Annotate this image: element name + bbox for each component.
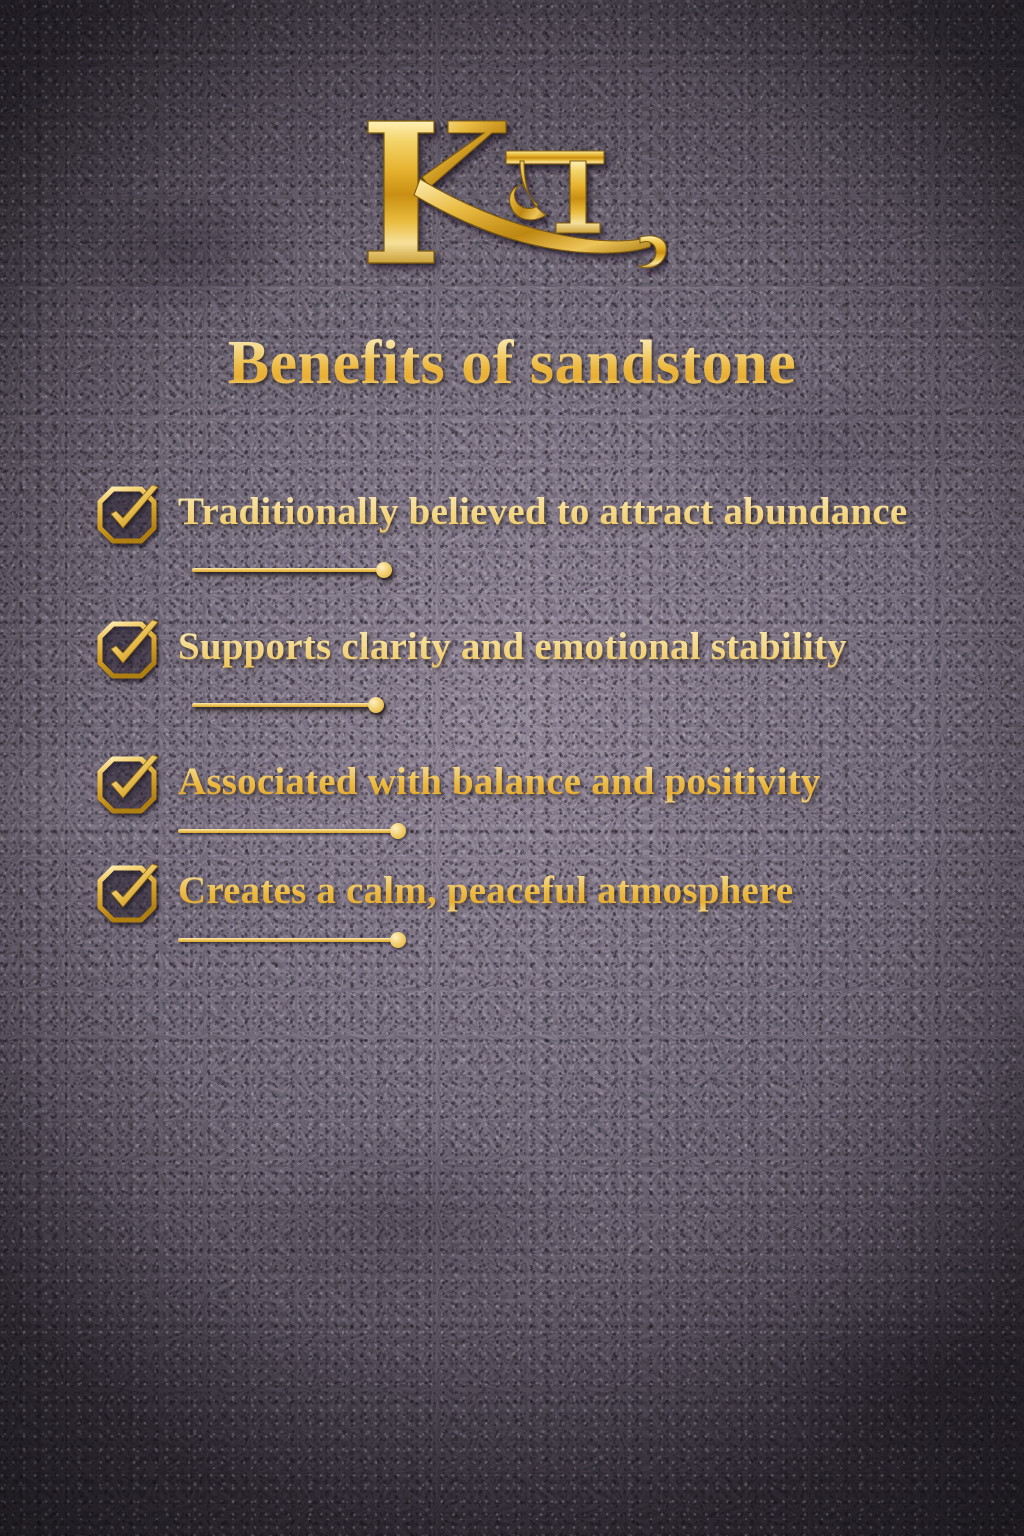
accent-rule-dot	[390, 823, 406, 839]
accent-rule	[178, 823, 956, 839]
checkbox-checked-icon[interactable]	[96, 864, 162, 926]
accent-rule-dot	[376, 562, 392, 578]
checkbox-checked-icon[interactable]	[96, 620, 162, 682]
benefits-list: Traditionally believed to attract abunda…	[96, 482, 956, 970]
brand-logo	[0, 104, 1024, 289]
accent-rule-bar	[192, 703, 370, 707]
list-item-text: Associated with balance and positivity	[178, 752, 956, 809]
list-item: Associated with balance and positivity	[96, 752, 956, 839]
list-item: Creates a calm, peaceful atmosphere	[96, 861, 956, 948]
list-item-text: Creates a calm, peaceful atmosphere	[178, 861, 956, 918]
accent-rule-bar	[178, 938, 392, 942]
accent-rule-dot	[390, 932, 406, 948]
list-item: Supports clarity and emotional stability	[96, 617, 956, 730]
benefit-1-label: Traditionally believed to attract abunda…	[178, 490, 907, 533]
accent-rule	[192, 551, 392, 590]
list-item-text: Traditionally believed to attract abunda…	[178, 482, 956, 595]
checkbox-checked-icon[interactable]	[96, 755, 162, 817]
accent-rule	[192, 686, 384, 725]
benefit-4-label: Creates a calm, peaceful atmosphere	[178, 869, 793, 912]
poster-canvas: Benefits of sandstone	[0, 0, 1024, 1536]
list-item: Traditionally believed to attract abunda…	[96, 482, 956, 595]
benefit-2-label: Supports clarity and emotional stability	[178, 625, 847, 668]
accent-rule	[178, 932, 956, 948]
accent-rule-bar	[178, 829, 392, 833]
benefit-3-label: Associated with balance and positivity	[178, 760, 821, 803]
accent-rule-dot	[368, 697, 384, 713]
list-item-text: Supports clarity and emotional stability	[178, 617, 956, 730]
checkbox-checked-icon[interactable]	[96, 485, 162, 547]
kp-monogram-icon	[356, 111, 668, 283]
page-title: Benefits of sandstone	[0, 332, 1024, 395]
accent-rule-bar	[192, 568, 378, 572]
